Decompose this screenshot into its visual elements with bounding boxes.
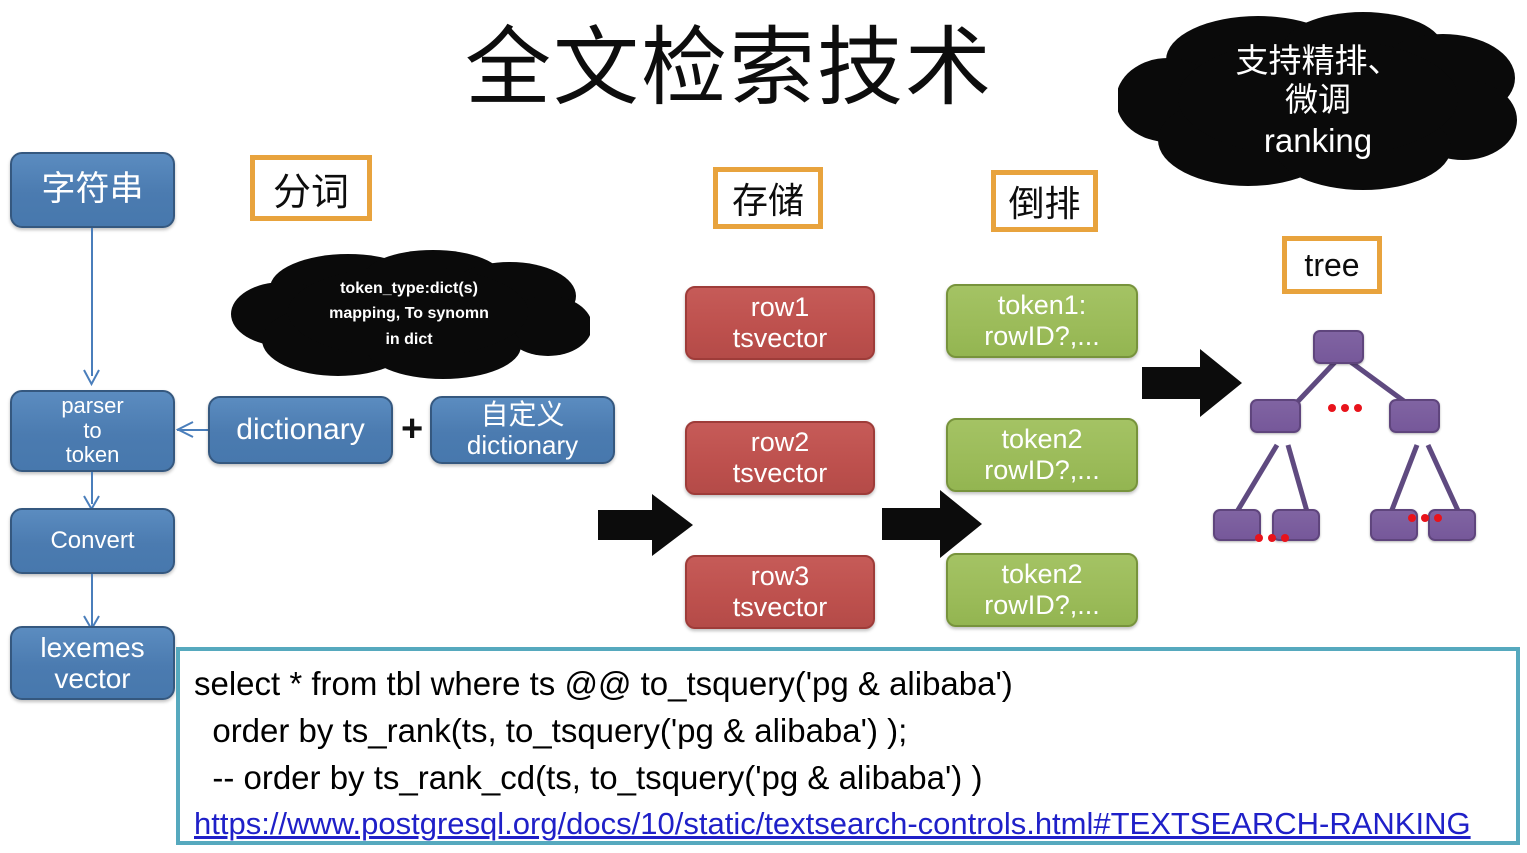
connector-string-parser bbox=[91, 228, 93, 376]
convert-box[interactable]: Convert bbox=[10, 508, 175, 574]
row-box-3-line-1: row3 bbox=[751, 561, 810, 592]
label-tokenize: 分词 bbox=[250, 155, 372, 221]
row-box-1-line-2: tsvector bbox=[733, 323, 828, 354]
row-box-1[interactable]: row1 tsvector bbox=[685, 286, 875, 360]
black-arrow-to-rows bbox=[596, 490, 696, 560]
tree-ellipsis-right bbox=[1408, 514, 1442, 522]
lexemes-vector-box[interactable]: lexemes vector bbox=[10, 626, 175, 700]
row-box-2-line-1: row2 bbox=[751, 427, 810, 458]
token-box-3-line-1: token2 bbox=[1001, 559, 1082, 590]
token-box-1-line-2: rowID?,... bbox=[984, 321, 1100, 352]
sql-line-1: select * from tbl where ts @@ to_tsquery… bbox=[194, 661, 1502, 708]
label-store-text: 存储 bbox=[732, 172, 804, 224]
dict-cloud: token_type:dict(s) mapping, To synomn in… bbox=[228, 248, 590, 380]
postgresql-docs-link[interactable]: https://www.postgresql.org/docs/10/stati… bbox=[194, 802, 1502, 846]
token-box-2-line-2: rowID?,... bbox=[984, 455, 1100, 486]
page-title: 全文检索技术 bbox=[465, 25, 993, 111]
tree-node-leaf-1[interactable] bbox=[1213, 509, 1261, 541]
row-box-2[interactable]: row2 tsvector bbox=[685, 421, 875, 495]
sql-panel: select * from tbl where ts @@ to_tsquery… bbox=[176, 647, 1520, 845]
custom-dictionary-box[interactable]: 自定义 dictionary bbox=[430, 396, 615, 464]
tree-node-left[interactable] bbox=[1250, 399, 1301, 433]
tree-node-root[interactable] bbox=[1313, 330, 1364, 364]
token-box-3[interactable]: token2 rowID?,... bbox=[946, 553, 1138, 627]
label-store: 存储 bbox=[713, 167, 823, 229]
parser-to-token-box[interactable]: parser to token bbox=[10, 390, 175, 472]
label-tokenize-text: 分词 bbox=[273, 161, 349, 216]
tree-ellipsis-left bbox=[1255, 534, 1289, 542]
string-box[interactable]: 字符串 bbox=[10, 152, 175, 228]
dictionary-box-label: dictionary bbox=[236, 413, 364, 447]
sql-line-2: order by ts_rank(ts, to_tsquery('pg & al… bbox=[194, 708, 1502, 755]
row-box-3[interactable]: row3 tsvector bbox=[685, 555, 875, 629]
label-invert-text: 倒排 bbox=[1008, 175, 1080, 227]
string-box-label: 字符串 bbox=[42, 171, 144, 209]
dictionary-box[interactable]: dictionary bbox=[208, 396, 393, 464]
plus-symbol: + bbox=[401, 408, 423, 451]
parser-line-1: parser bbox=[61, 394, 123, 419]
arrowhead-down-1 bbox=[82, 368, 102, 388]
tree-node-right[interactable] bbox=[1389, 399, 1440, 433]
ranking-cloud-shape bbox=[1118, 8, 1518, 198]
lexemes-line-1: lexemes bbox=[40, 632, 144, 663]
row-box-1-line-1: row1 bbox=[751, 292, 810, 323]
token-box-2-line-1: token2 bbox=[1001, 424, 1082, 455]
ranking-cloud: 支持精排、 微调 ranking bbox=[1118, 8, 1518, 198]
sql-line-3: -- order by ts_rank_cd(ts, to_tsquery('p… bbox=[194, 755, 1502, 802]
label-tree: tree bbox=[1282, 236, 1382, 294]
token-box-3-line-2: rowID?,... bbox=[984, 590, 1100, 621]
token-box-1[interactable]: token1: rowID?,... bbox=[946, 284, 1138, 358]
convert-box-label: Convert bbox=[50, 528, 134, 555]
token-box-1-line-1: token1: bbox=[998, 290, 1087, 321]
arrowhead-left-1 bbox=[175, 420, 195, 440]
token-box-2[interactable]: token2 rowID?,... bbox=[946, 418, 1138, 492]
black-arrow-to-tokens bbox=[880, 485, 985, 563]
row-box-2-line-2: tsvector bbox=[733, 458, 828, 489]
tree-ellipsis-middle bbox=[1328, 404, 1362, 412]
dict-cloud-shape bbox=[228, 248, 590, 380]
slide-canvas: 全文检索技术 字符串 parser to token Convert lexem… bbox=[0, 0, 1527, 853]
row-box-3-line-2: tsvector bbox=[733, 592, 828, 623]
label-tree-text: tree bbox=[1304, 247, 1359, 284]
parser-line-3: token bbox=[66, 443, 120, 468]
parser-line-2: to bbox=[83, 419, 101, 444]
custom-dictionary-line-2: dictionary bbox=[467, 431, 578, 460]
custom-dictionary-line-1: 自定义 bbox=[480, 400, 564, 431]
lexemes-line-2: vector bbox=[54, 663, 130, 694]
label-invert: 倒排 bbox=[991, 170, 1098, 232]
